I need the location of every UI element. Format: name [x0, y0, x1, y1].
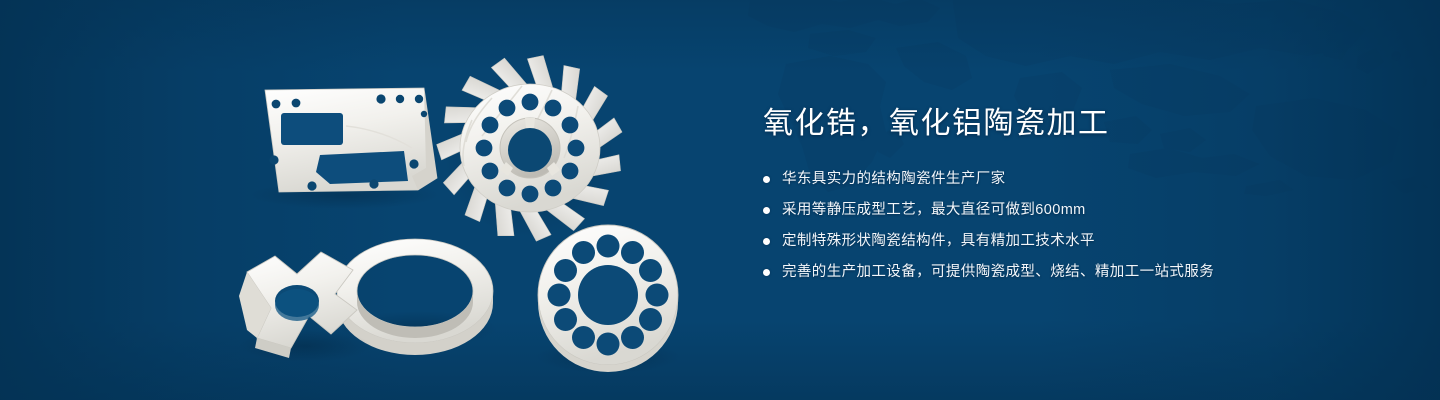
- promo-banner: 氧化锆，氧化铝陶瓷加工 华东具实力的结构陶瓷件生产厂家 采用等静压成型工艺，最大…: [0, 0, 1440, 400]
- feature-list: 华东具实力的结构陶瓷件生产厂家 采用等静压成型工艺，最大直径可做到600mm 定…: [763, 168, 1323, 283]
- product-perforated-disc: [536, 225, 680, 373]
- feature-text: 完善的生产加工设备，可提供陶瓷成型、烧结、精加工一站式服务: [782, 261, 1214, 283]
- banner-copy: 氧化锆，氧化铝陶瓷加工 华东具实力的结构陶瓷件生产厂家 采用等静压成型工艺，最大…: [763, 104, 1323, 292]
- feature-text: 定制特殊形状陶瓷结构件，具有精加工技术水平: [782, 230, 1095, 252]
- list-item: 华东具实力的结构陶瓷件生产厂家: [763, 168, 1323, 190]
- product-impeller: [434, 51, 626, 242]
- feature-text: 采用等静压成型工艺，最大直径可做到600mm: [782, 199, 1086, 221]
- page-title: 氧化锆，氧化铝陶瓷加工: [763, 104, 1323, 144]
- ceramic-products-image: [0, 0, 720, 400]
- bullet-dot-icon: [763, 176, 770, 183]
- product-cross-plate: [239, 252, 371, 362]
- list-item: 采用等静压成型工艺，最大直径可做到600mm: [763, 199, 1323, 221]
- product-mounting-plate: [250, 88, 440, 209]
- list-item: 完善的生产加工设备，可提供陶瓷成型、烧结、精加工一站式服务: [763, 261, 1323, 283]
- feature-text: 华东具实力的结构陶瓷件生产厂家: [782, 168, 1006, 190]
- list-item: 定制特殊形状陶瓷结构件，具有精加工技术水平: [763, 230, 1323, 252]
- bullet-dot-icon: [763, 238, 770, 245]
- bullet-dot-icon: [763, 207, 770, 214]
- bullet-dot-icon: [763, 269, 770, 276]
